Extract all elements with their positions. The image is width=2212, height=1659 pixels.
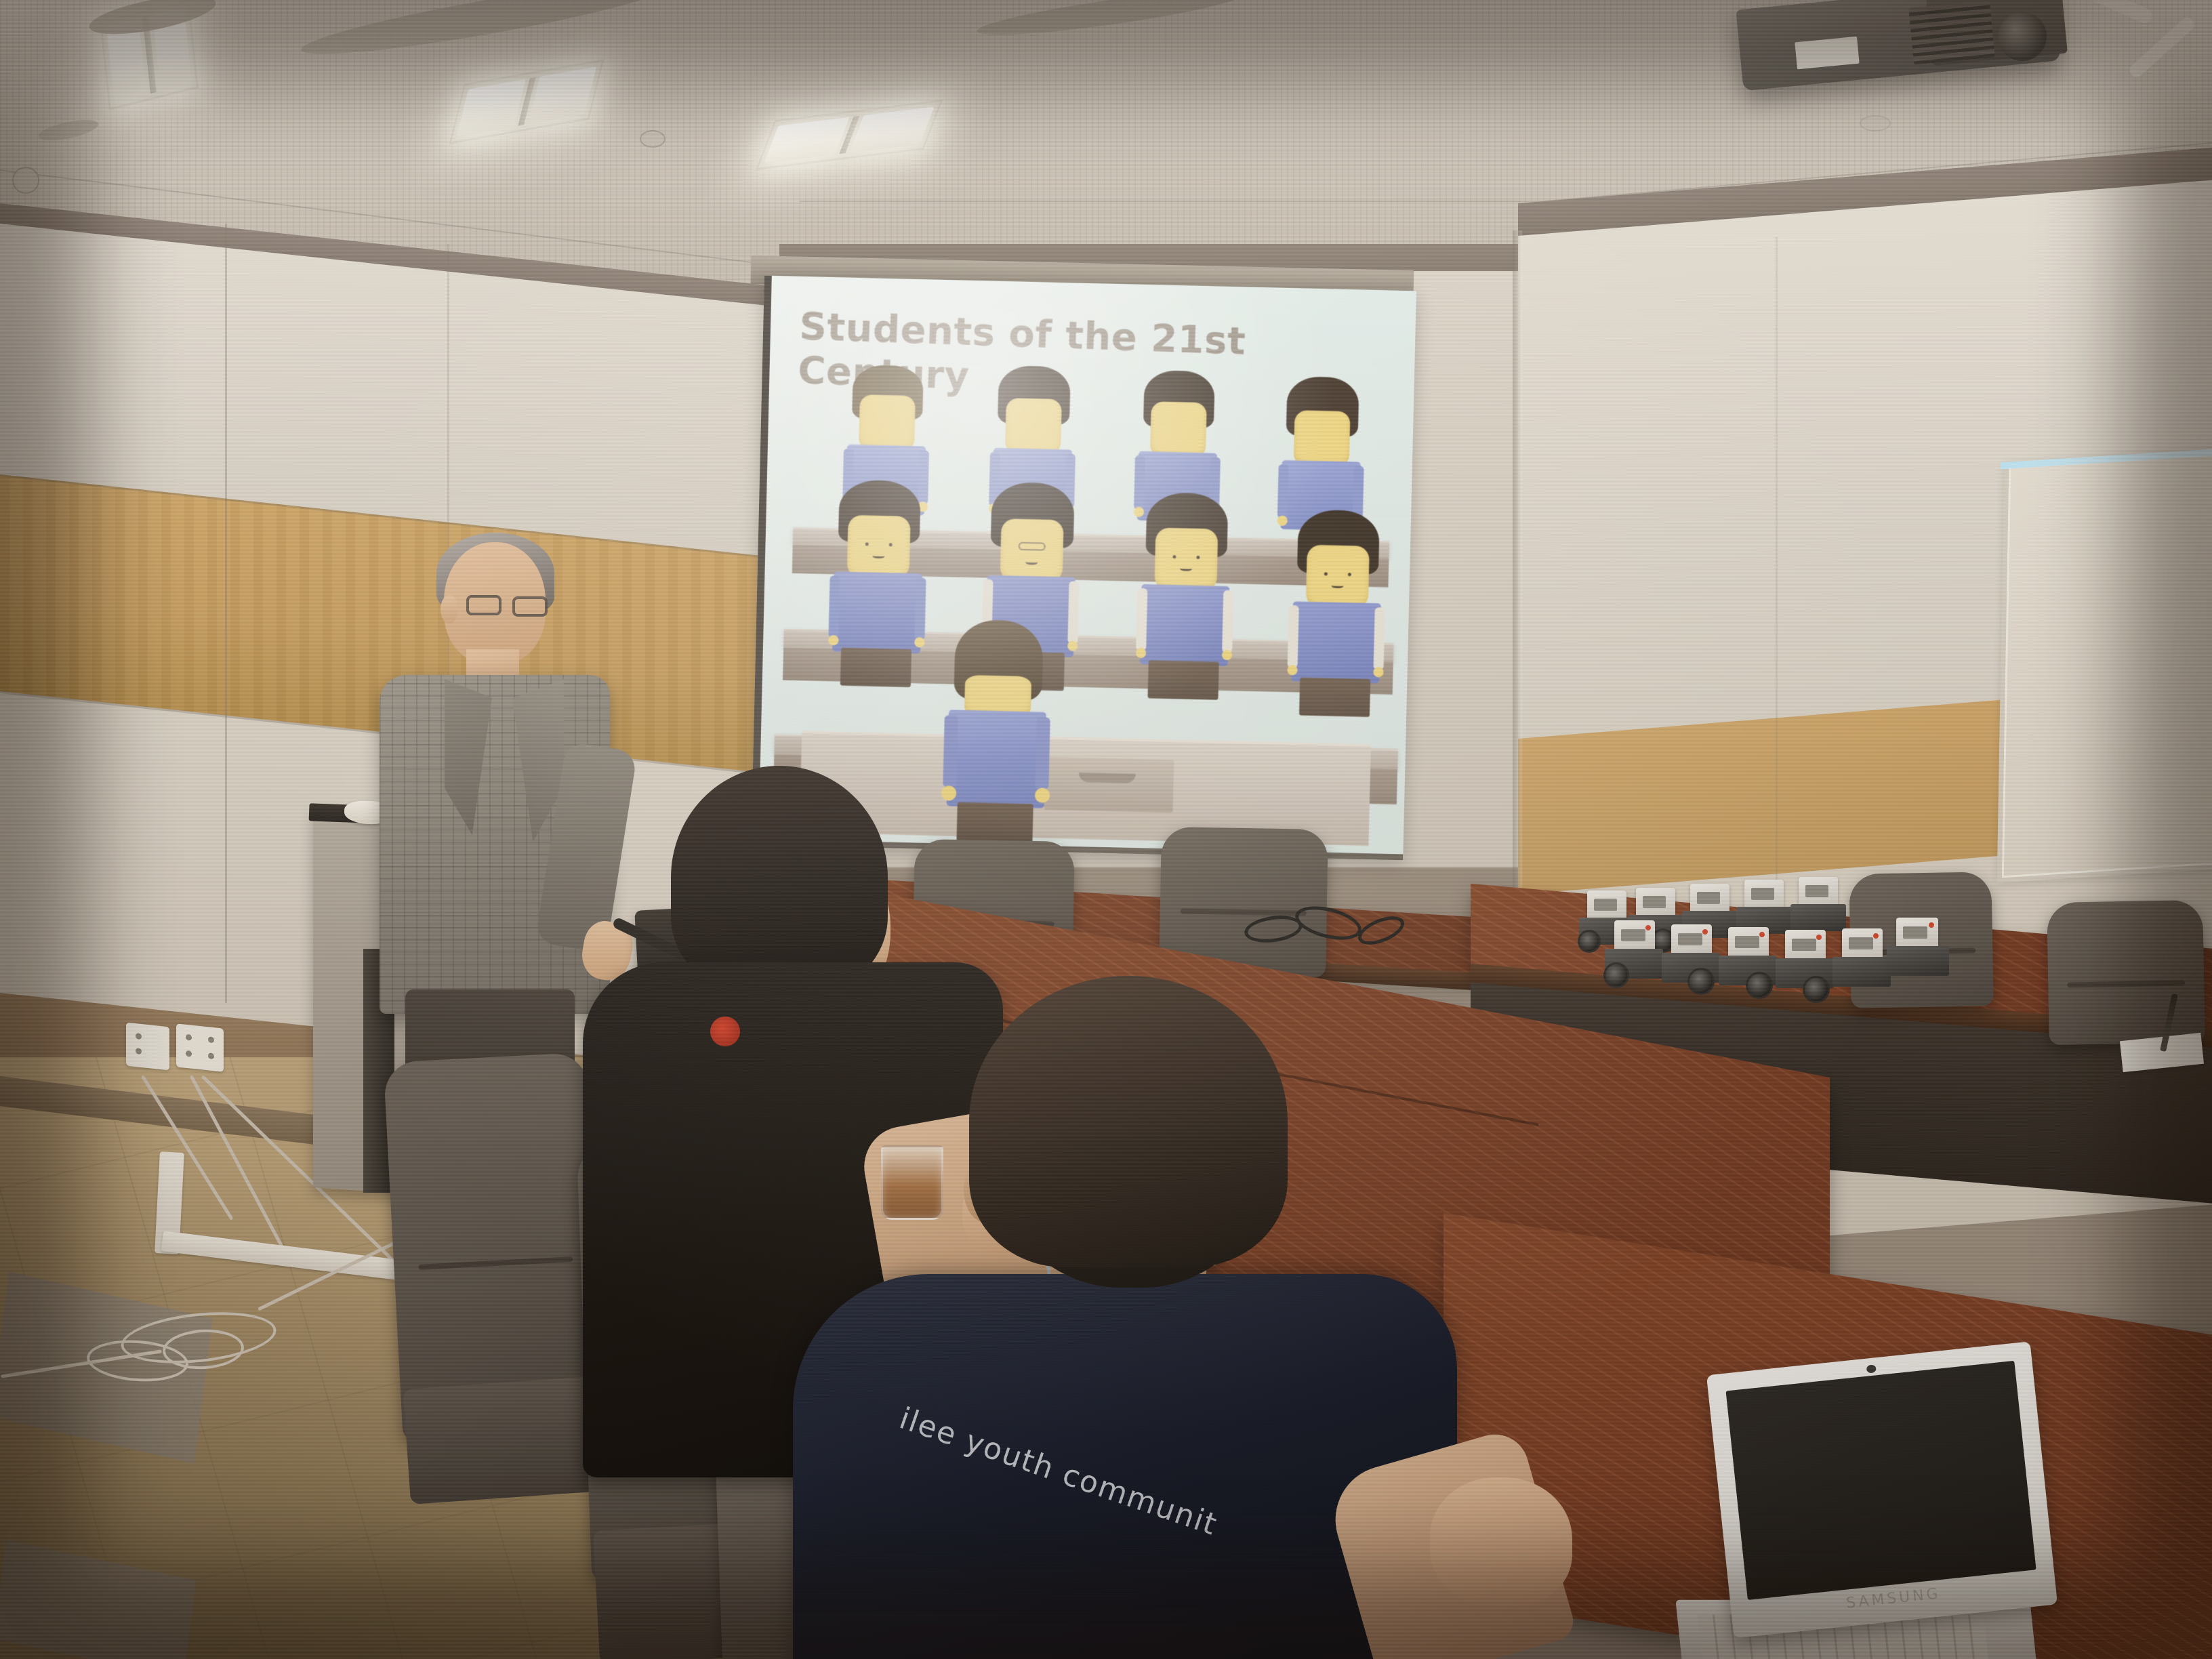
wall-corner [1513, 230, 1522, 942]
sprinkler-head [1860, 115, 1891, 131]
laptop-screen [1726, 1361, 2036, 1600]
robot [1881, 918, 1956, 992]
drinking-glass [881, 1145, 943, 1220]
photo-scene: Students of the 21st Century [0, 0, 2212, 1659]
sprinkler-head [640, 130, 665, 148]
projector-vent-grille [1908, 0, 1994, 64]
wall-panel-seam [1776, 237, 1778, 901]
ceiling-seam [800, 201, 1559, 202]
attendee1-hair [671, 766, 888, 989]
sprinkler-head [12, 167, 39, 194]
wall-outlet-2[interactable] [176, 1023, 224, 1071]
wall-panel-seam [225, 224, 227, 1003]
attendee2-hand [1430, 1477, 1572, 1606]
laptop-white[interactable]: SAMSUNG [1706, 1337, 2102, 1659]
wall-outlet-1[interactable] [126, 1023, 169, 1071]
whiteboard [1997, 448, 2212, 883]
presenter-ear [441, 595, 458, 623]
presenter-glasses [466, 595, 548, 618]
chair-right-2[interactable] [2047, 900, 2205, 1045]
attendee1-shirt-logo [710, 1017, 740, 1046]
attendee2-hair [969, 976, 1288, 1267]
lego-mindstorms-robots [1572, 888, 1992, 1023]
attendee-navy-shirt: ilee youth communit [969, 976, 1620, 1659]
